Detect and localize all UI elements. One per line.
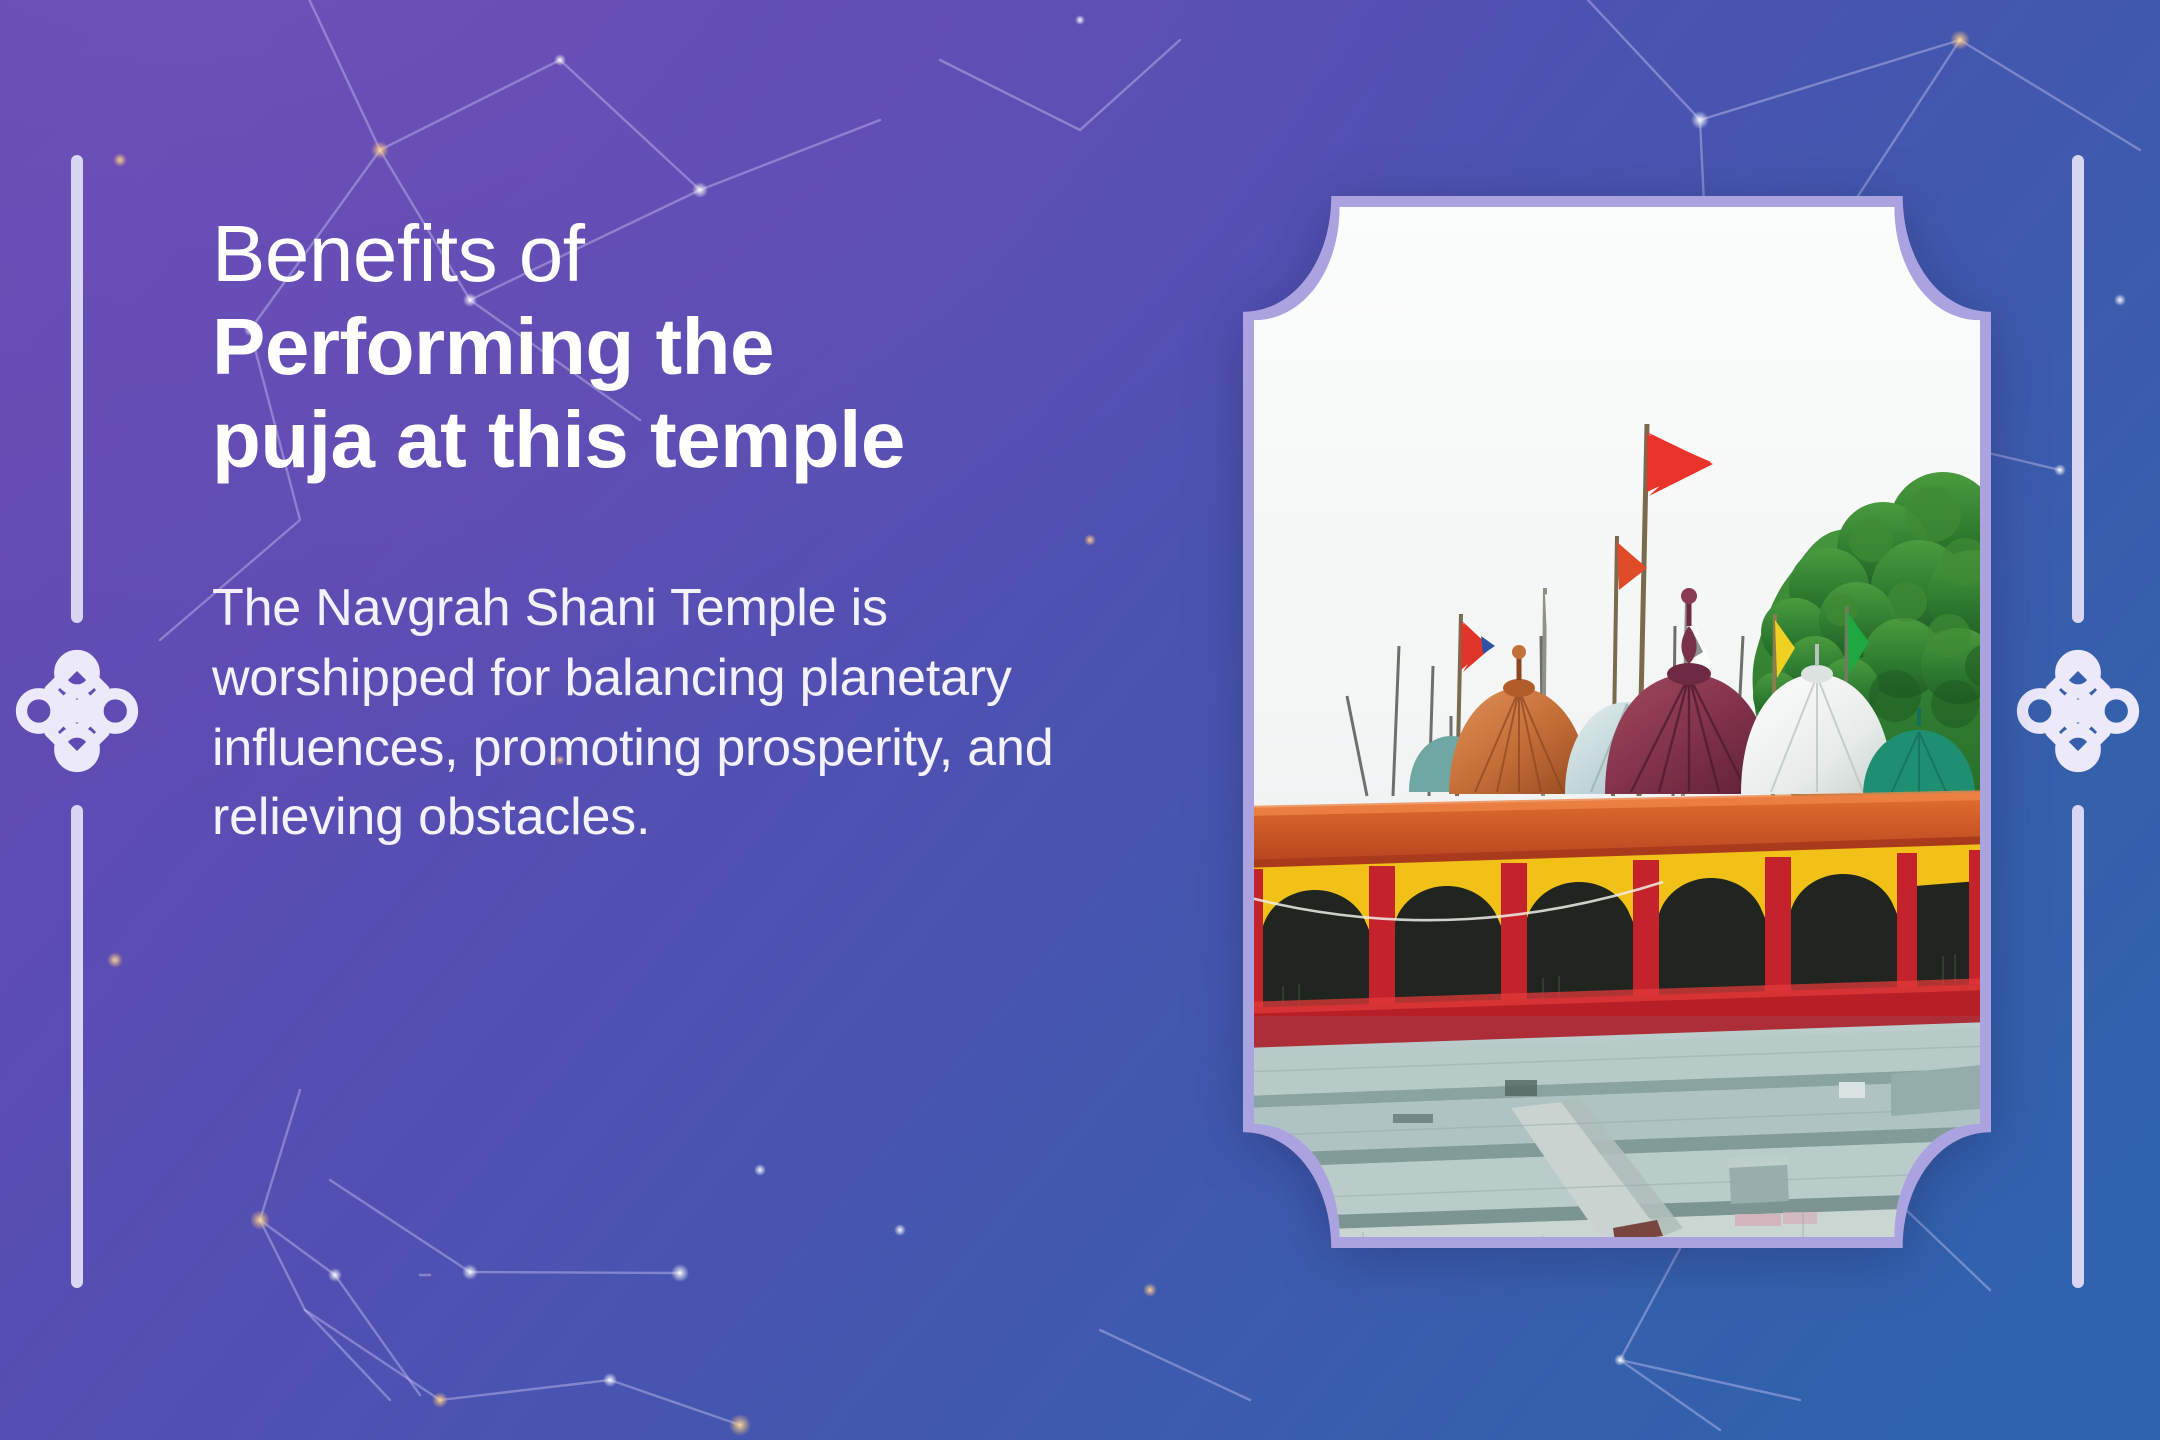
- title-line-1: Benefits of: [212, 208, 1212, 301]
- endless-knot-ornament-icon: [2, 636, 152, 786]
- body-paragraph: The Navgrah Shani Temple is worshipped f…: [212, 574, 1142, 853]
- left-rule-top: [71, 155, 83, 623]
- title-line-2: Performing the: [212, 301, 1212, 394]
- slide-canvas: Benefits of Performing the puja at this …: [0, 0, 2160, 1440]
- right-rule-top: [2072, 155, 2084, 623]
- temple-photograph: [1254, 207, 1980, 1237]
- left-rule-bottom: [71, 805, 83, 1288]
- endless-knot-ornament-icon: [2003, 636, 2153, 786]
- title-line-3: puja at this temple: [212, 394, 1212, 487]
- right-rule-bottom: [2072, 805, 2084, 1288]
- temple-photo-frame: [1243, 196, 1991, 1248]
- page-title: Benefits of Performing the puja at this …: [212, 208, 1212, 486]
- text-column: Benefits of Performing the puja at this …: [212, 208, 1212, 853]
